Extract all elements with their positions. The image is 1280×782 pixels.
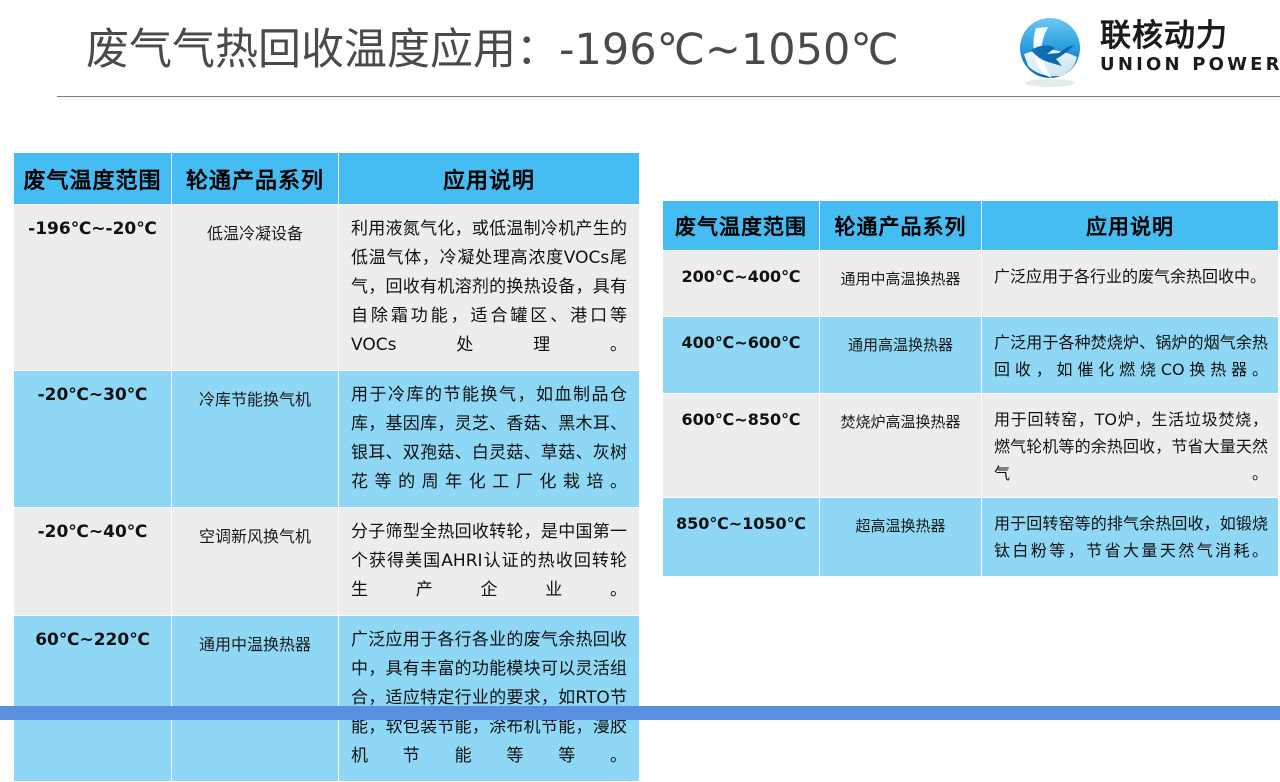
table-row: 400℃~600℃ 通用高温换热器 广泛用于各种焚烧炉、锅炉的烟气余热回收，如催…: [663, 317, 1279, 394]
column-header-range: 废气温度范围: [14, 153, 172, 205]
logo-wordmark: 联核动力 UNION POWER: [1100, 18, 1276, 76]
cell-application-note: 用于回转窑等的排气余热回收，如锻烧钛白粉等，节省大量天然气消耗。: [982, 498, 1279, 577]
table-row: 600℃~850℃ 焚烧炉高温换热器 用于回转窑，TO炉，生活垃圾焚烧，燃气轮机…: [663, 394, 1279, 498]
cell-product-series: 空调新风换气机: [172, 508, 339, 616]
cell-application-note: 用于冷库的节能换气，如血制品仓库，基因库，灵芝、香菇、黑木耳、银耳、双孢菇、白灵…: [339, 371, 640, 508]
title-divider: [57, 96, 1280, 97]
temperature-application-table-right: 废气温度范围 轮通产品系列 应用说明 200℃~400℃ 通用中高温换热器 广泛…: [662, 200, 1279, 577]
cell-product-series: 通用中高温换热器: [820, 251, 982, 317]
column-header-desc: 应用说明: [982, 201, 1279, 251]
cell-temperature-range: 60℃~220℃: [14, 616, 172, 782]
cell-application-note: 广泛应用于各行各业的废气余热回收中，具有丰富的功能模块可以灵活组合，适应特定行业…: [339, 616, 640, 782]
cell-temperature-range: 200℃~400℃: [663, 251, 820, 317]
table-row: -20℃~40℃ 空调新风换气机 分子筛型全热回收转轮，是中国第一个获得美国AH…: [14, 508, 640, 616]
cell-product-series: 焚烧炉高温换热器: [820, 394, 982, 498]
cell-temperature-range: 850℃~1050℃: [663, 498, 820, 577]
table-row: -196℃~-20℃ 低温冷凝设备 利用液氮气化，或低温制冷机产生的低温气体，冷…: [14, 205, 640, 371]
cell-product-series: 通用高温换热器: [820, 317, 982, 394]
cell-product-series: 冷库节能换气机: [172, 371, 339, 508]
slide-header: 废气气热回收温度应用：-196℃~1050℃: [0, 0, 1280, 100]
cell-temperature-range: -196℃~-20℃: [14, 205, 172, 371]
table-row: 850℃~1050℃ 超高温换热器 用于回转窑等的排气余热回收，如锻烧钛白粉等，…: [663, 498, 1279, 577]
column-header-series: 轮通产品系列: [172, 153, 339, 205]
cell-temperature-range: 400℃~600℃: [663, 317, 820, 394]
footer-accent-bar: [0, 706, 1280, 720]
company-logo: 联核动力 UNION POWER: [1014, 14, 1276, 90]
cell-product-series: 超高温换热器: [820, 498, 982, 577]
logo-company-cn: 联核动力: [1100, 18, 1228, 54]
table-row: 200℃~400℃ 通用中高温换热器 广泛应用于各行业的废气余热回收中。: [663, 251, 1279, 317]
table-header-row: 废气温度范围 轮通产品系列 应用说明: [14, 153, 640, 205]
cell-application-note: 广泛应用于各行业的废气余热回收中。: [982, 251, 1279, 317]
table-header-row: 废气温度范围 轮通产品系列 应用说明: [663, 201, 1279, 251]
temperature-application-table-left: 废气温度范围 轮通产品系列 应用说明 -196℃~-20℃ 低温冷凝设备 利用液…: [13, 152, 640, 782]
cell-application-note: 用于回转窑，TO炉，生活垃圾焚烧，燃气轮机等的余热回收，节省大量天然气。: [982, 394, 1279, 498]
union-power-globe-icon: [1014, 14, 1090, 90]
cell-temperature-range: -20℃~30℃: [14, 371, 172, 508]
logo-company-en: UNION POWER: [1100, 54, 1280, 75]
cell-product-series: 通用中温换热器: [172, 616, 339, 782]
table-row: -20℃~30℃ 冷库节能换气机 用于冷库的节能换气，如血制品仓库，基因库，灵芝…: [14, 371, 640, 508]
cell-application-note: 分子筛型全热回收转轮，是中国第一个获得美国AHRI认证的热收回转轮生产企业。: [339, 508, 640, 616]
cell-temperature-range: 600℃~850℃: [663, 394, 820, 498]
cell-application-note: 广泛用于各种焚烧炉、锅炉的烟气余热回收，如催化燃烧CO换热器。: [982, 317, 1279, 394]
column-header-desc: 应用说明: [339, 153, 640, 205]
cell-product-series: 低温冷凝设备: [172, 205, 339, 371]
column-header-series: 轮通产品系列: [820, 201, 982, 251]
cell-temperature-range: -20℃~40℃: [14, 508, 172, 616]
cell-application-note: 利用液氮气化，或低温制冷机产生的低温气体，冷凝处理高浓度VOCs尾气，回收有机溶…: [339, 205, 640, 371]
page-title: 废气气热回收温度应用：-196℃~1050℃: [86, 22, 899, 78]
column-header-range: 废气温度范围: [663, 201, 820, 251]
table-row: 60℃~220℃ 通用中温换热器 广泛应用于各行各业的废气余热回收中，具有丰富的…: [14, 616, 640, 782]
